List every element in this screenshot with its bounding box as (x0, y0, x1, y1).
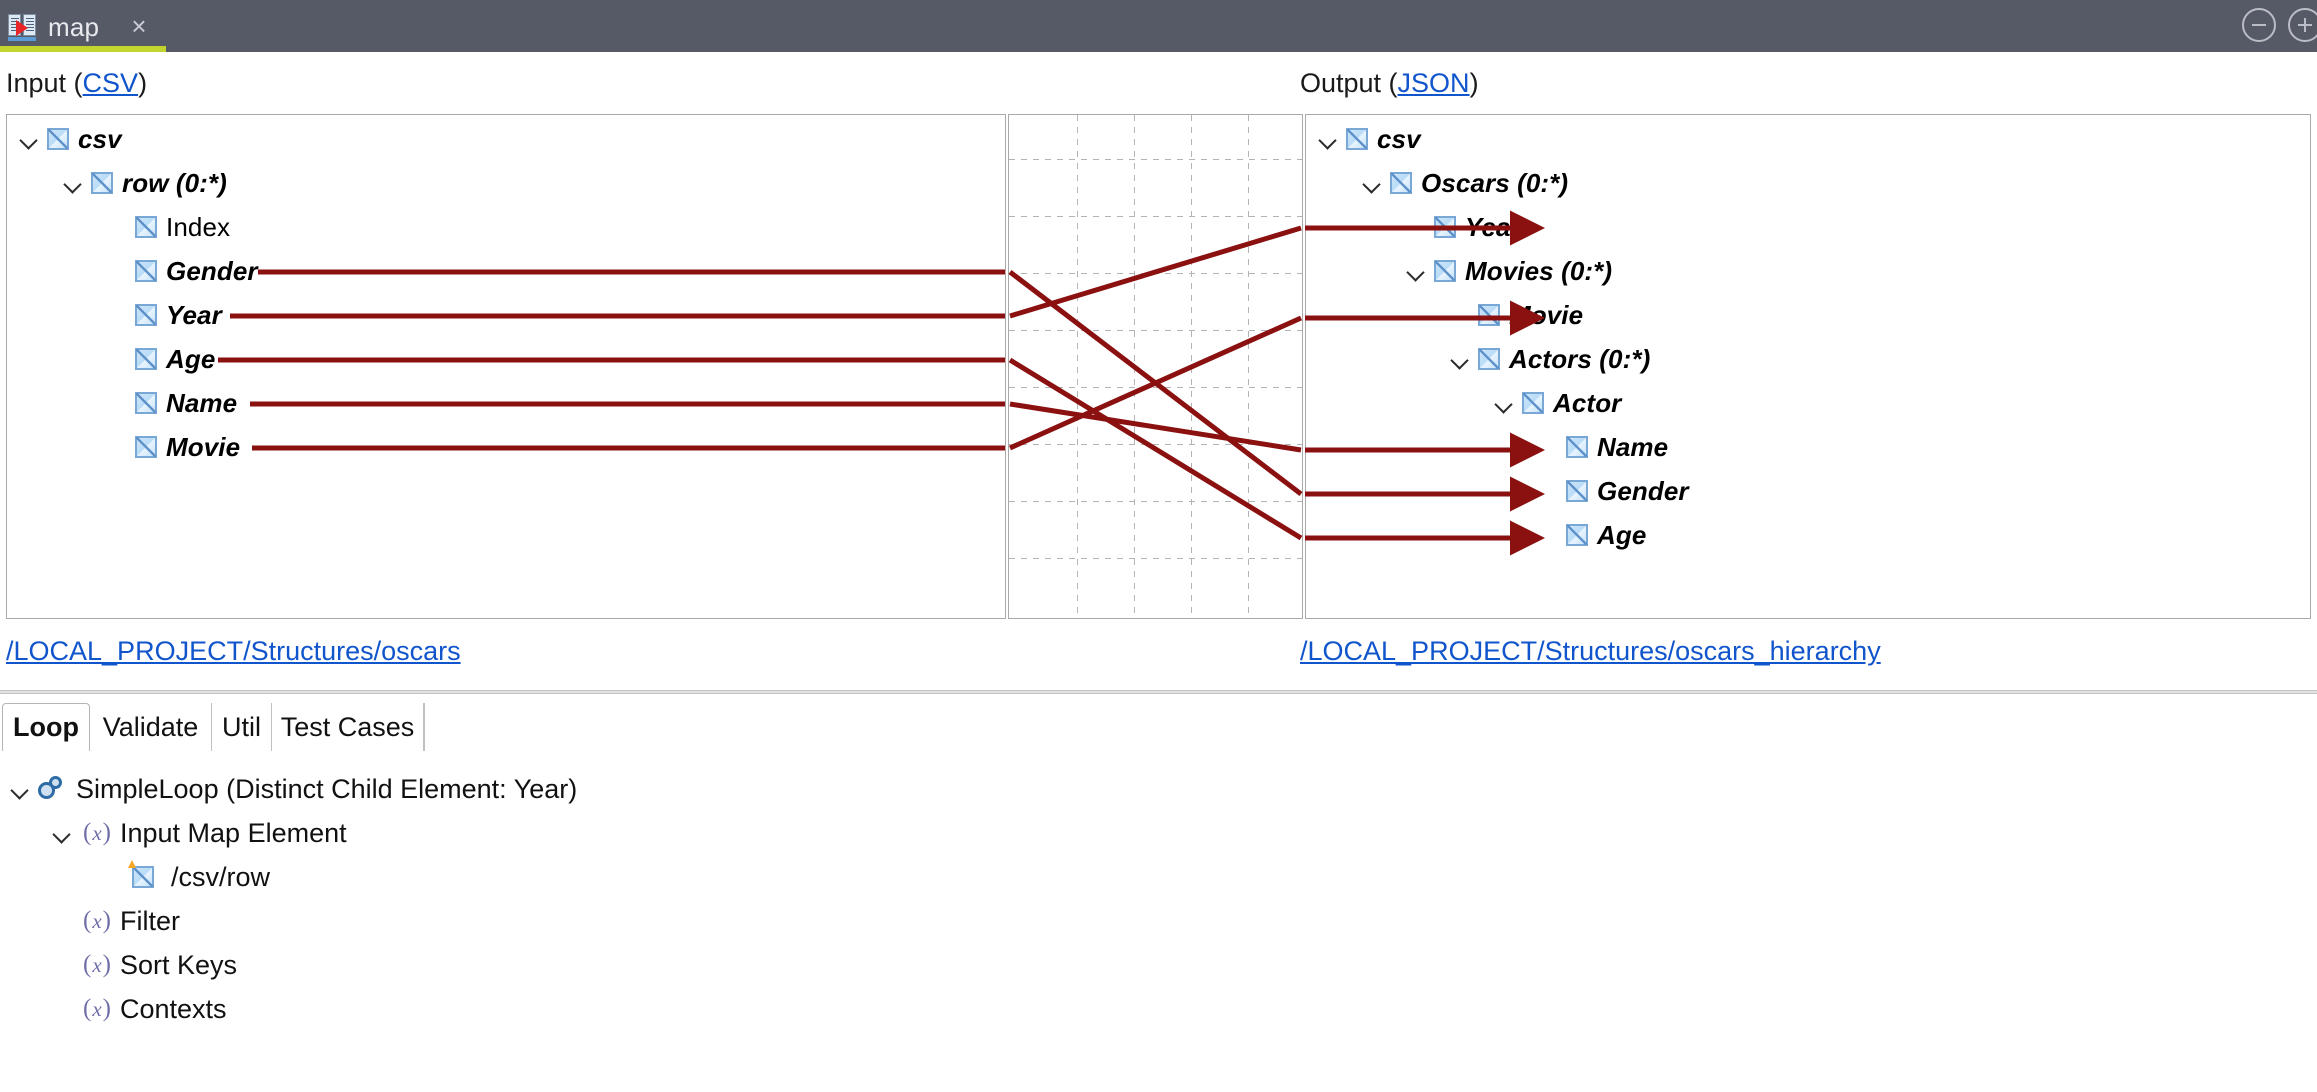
loop-tree-row-label: Sort Keys (120, 950, 237, 981)
tree-row[interactable]: row (0:*) (61, 163, 227, 203)
chevron-down-icon[interactable] (1316, 126, 1342, 152)
tree-row[interactable]: csv (1316, 119, 1421, 159)
tree-row-label: Year (166, 300, 222, 331)
loop-tree-row[interactable]: /csv/row (92, 855, 270, 899)
tree-row[interactable]: Movie (1448, 295, 1583, 335)
tree-row[interactable]: Movies (0:*) (1404, 251, 1612, 291)
twisty-placeholder (1536, 522, 1562, 548)
tab-label: Validate (103, 712, 199, 743)
input-structure-tree[interactable]: csvrow (0:*)IndexGenderYearAgeNameMovie (6, 114, 1006, 619)
bottom-tab-strip: LoopValidateUtilTest Cases (0, 703, 2317, 751)
map-file-icon (8, 12, 38, 42)
tree-row[interactable]: Actors (0:*) (1448, 339, 1650, 379)
tab-test-cases[interactable]: Test Cases (272, 703, 424, 751)
output-structure-path-link[interactable]: /LOCAL_PROJECT/Structures/oscars_hierarc… (1300, 636, 1881, 667)
tree-row-label: Name (1597, 432, 1668, 463)
chevron-down-icon[interactable] (1492, 390, 1518, 416)
function-icon: x (80, 995, 114, 1023)
chevron-down-icon[interactable] (1360, 170, 1386, 196)
chevron-down-icon[interactable] (50, 820, 76, 846)
tab-label: Util (222, 712, 261, 743)
function-icon: x (80, 951, 114, 979)
twisty-placeholder (50, 908, 76, 934)
loop-tree-row-label: SimpleLoop (Distinct Child Element: Year… (76, 774, 577, 805)
tree-row[interactable]: Age (1536, 515, 1646, 555)
tree-row-label: Gender (1597, 476, 1689, 507)
horizontal-splitter[interactable] (0, 690, 2317, 694)
window-title-bar: map × (0, 0, 2317, 52)
twisty-placeholder (50, 952, 76, 978)
function-icon: x (80, 907, 114, 935)
input-header-suffix: ) (138, 68, 147, 98)
twisty-placeholder (105, 390, 131, 416)
twisty-placeholder (105, 258, 131, 284)
schema-element-icon (1346, 128, 1368, 150)
minimize-icon[interactable] (2242, 8, 2276, 42)
loop-tree-row[interactable]: xInput Map Element (50, 811, 347, 855)
schema-element-icon (1566, 524, 1588, 546)
chevron-down-icon[interactable] (1404, 258, 1430, 284)
twisty-placeholder (92, 864, 118, 890)
tree-row[interactable]: Oscars (0:*) (1360, 163, 1568, 203)
schema-element-icon (1478, 348, 1500, 370)
maximize-icon[interactable] (2288, 8, 2317, 42)
tree-row[interactable]: Actor (1492, 383, 1621, 423)
tree-row-label: Actors (0:*) (1509, 344, 1650, 375)
chevron-down-icon[interactable] (61, 170, 87, 196)
chevron-down-icon[interactable] (17, 126, 43, 152)
schema-element-icon (135, 260, 157, 282)
input-panel-header: Input (CSV) (6, 68, 147, 99)
tree-row-label: csv (78, 124, 122, 155)
tree-row-label: Age (1597, 520, 1646, 551)
schema-element-icon (1434, 260, 1456, 282)
tree-row-label: Year (1465, 212, 1521, 243)
schema-element-icon (135, 436, 157, 458)
tab-label: Loop (13, 712, 79, 743)
tab-validate[interactable]: Validate (90, 703, 212, 751)
tree-row[interactable]: Name (105, 383, 237, 423)
tree-row-label: csv (1377, 124, 1421, 155)
twisty-placeholder (105, 214, 131, 240)
mapping-grid-panel[interactable] (1008, 114, 1303, 619)
chevron-down-icon[interactable] (8, 776, 34, 802)
schema-element-icon (135, 392, 157, 414)
tree-row[interactable]: Movie (105, 427, 240, 467)
tree-row-label: Gender (166, 256, 258, 287)
tab-loop[interactable]: Loop (2, 703, 90, 751)
tree-row[interactable]: Gender (1536, 471, 1689, 511)
editor-tab-label: map (48, 12, 99, 43)
schema-element-icon (1566, 480, 1588, 502)
tree-row[interactable]: Age (105, 339, 215, 379)
loop-tree-row[interactable]: xContexts (50, 987, 227, 1031)
twisty-placeholder (1536, 478, 1562, 504)
tree-row-label: Actor (1553, 388, 1621, 419)
twisty-placeholder (50, 996, 76, 1022)
twisty-placeholder (1448, 302, 1474, 328)
output-header-prefix: Output ( (1300, 68, 1398, 98)
schema-element-icon (1390, 172, 1412, 194)
loop-tree-row[interactable]: SimpleLoop (Distinct Child Element: Year… (8, 767, 577, 811)
input-format-link[interactable]: CSV (83, 68, 139, 98)
loop-tree-row-label: Input Map Element (120, 818, 347, 849)
close-icon[interactable]: × (126, 14, 152, 40)
output-structure-tree[interactable]: csvOscars (0:*)YearMovies (0:*)MovieActo… (1305, 114, 2311, 619)
tree-row-label: Movie (166, 432, 240, 463)
schema-element-icon (47, 128, 69, 150)
loop-tree-row-label: /csv/row (171, 862, 270, 893)
tree-row-label: Age (166, 344, 215, 375)
tree-row[interactable]: Name (1536, 427, 1668, 467)
input-header-prefix: Input ( (6, 68, 83, 98)
output-format-link[interactable]: JSON (1398, 68, 1470, 98)
twisty-placeholder (1404, 214, 1430, 240)
tree-row-label: Movie (1509, 300, 1583, 331)
tree-row[interactable]: Year (1404, 207, 1521, 247)
loop-tree-row-label: Filter (120, 906, 180, 937)
output-header-suffix: ) (1470, 68, 1479, 98)
schema-element-icon (1434, 216, 1456, 238)
twisty-placeholder (105, 302, 131, 328)
input-structure-path-link[interactable]: /LOCAL_PROJECT/Structures/oscars (6, 636, 461, 667)
chevron-down-icon[interactable] (1448, 346, 1474, 372)
schema-element-icon (135, 348, 157, 370)
loop-tree-row[interactable]: xFilter (50, 899, 180, 943)
tab-strip-end (424, 703, 425, 751)
tree-row[interactable]: Gender (105, 251, 258, 291)
twisty-placeholder (105, 434, 131, 460)
loop-tree-row[interactable]: xSort Keys (50, 943, 237, 987)
gear-icon (38, 776, 68, 802)
twisty-placeholder (105, 346, 131, 372)
tree-row[interactable]: Year (105, 295, 222, 335)
schema-element-icon (135, 304, 157, 326)
schema-element-icon (132, 866, 154, 888)
tree-row[interactable]: Index (105, 207, 230, 247)
tree-row[interactable]: csv (17, 119, 122, 159)
tree-row-label: row (0:*) (122, 168, 227, 199)
function-icon: x (80, 819, 114, 847)
output-panel-header: Output (JSON) (1300, 68, 1479, 99)
twisty-placeholder (1536, 434, 1562, 460)
schema-element-icon (1566, 436, 1588, 458)
tree-row-label: Oscars (0:*) (1421, 168, 1568, 199)
tree-row-label: Index (166, 212, 230, 243)
tab-strip-baseline (0, 751, 2317, 752)
tab-label: Test Cases (281, 712, 415, 743)
tab-util[interactable]: Util (212, 703, 272, 751)
tree-row-label: Name (166, 388, 237, 419)
tree-row-label: Movies (0:*) (1465, 256, 1612, 287)
active-tab-underline (0, 46, 166, 52)
schema-element-icon (1478, 304, 1500, 326)
loop-tree-row-label: Contexts (120, 994, 227, 1025)
schema-element-icon (1522, 392, 1544, 414)
schema-element-icon (91, 172, 113, 194)
schema-element-icon (135, 216, 157, 238)
